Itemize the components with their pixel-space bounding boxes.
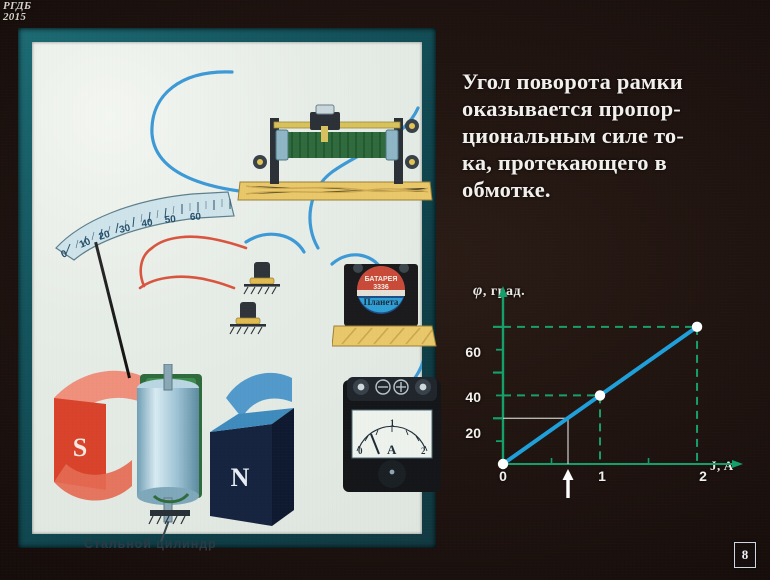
headline-line-3: циональным силе то- — [462, 122, 762, 149]
headline-line-4: ка, протекающего в — [462, 149, 762, 176]
headline-text: Угол поворота рамки оказывается пропор- … — [462, 68, 762, 203]
headline-line-5: обмотке. — [462, 176, 762, 203]
battery: БАТАРЕЯ 3336 Планета — [332, 264, 442, 356]
slide-root: РГДБ 2015 — [0, 0, 770, 580]
terminal-post-upper — [228, 260, 298, 302]
protractor-tick-40: 40 — [141, 217, 154, 230]
ammeter: 0 1 2 A — [337, 374, 447, 496]
ammeter-tick-2: 2 — [421, 446, 426, 456]
protractor-scale: 0 10 20 30 40 50 60 — [52, 182, 252, 262]
phi-vs-current-chart: φ, град. J, A 20 40 60 0 1 2 — [455, 282, 765, 512]
illustration-frame: 0 10 20 30 40 50 60 — [18, 28, 436, 548]
battery-label-line3: Планета — [364, 297, 399, 307]
watermark: РГДБ 2015 — [3, 1, 31, 23]
battery-label-line1: БАТАРЕЯ — [365, 276, 398, 283]
headline-line-1: Угол поворота рамки — [462, 68, 762, 95]
rheostat-apparatus — [232, 100, 442, 210]
ammeter-tick-1: 1 — [390, 418, 395, 428]
terminal-post-lower — [214, 300, 284, 342]
illustration-caption: Стальной цилиндр — [84, 537, 217, 551]
ammeter-tick-0: 0 — [358, 446, 363, 456]
magnet-assembly: S N — [54, 364, 294, 534]
magnet-north-label: N — [231, 463, 250, 492]
illustration-panel: 0 10 20 30 40 50 60 — [32, 42, 422, 534]
headline-line-2: оказывается пропор- — [462, 95, 762, 122]
watermark-line-2: 2015 — [3, 12, 31, 23]
battery-label-line2: 3336 — [373, 284, 389, 291]
magnet-south-label: S — [73, 433, 87, 462]
ammeter-unit: A — [387, 442, 397, 457]
page-number-badge: 8 — [734, 542, 756, 568]
protractor-tick-60: 60 — [190, 212, 202, 223]
chart-plot-area — [455, 282, 765, 512]
protractor-tick-50: 50 — [164, 214, 176, 226]
